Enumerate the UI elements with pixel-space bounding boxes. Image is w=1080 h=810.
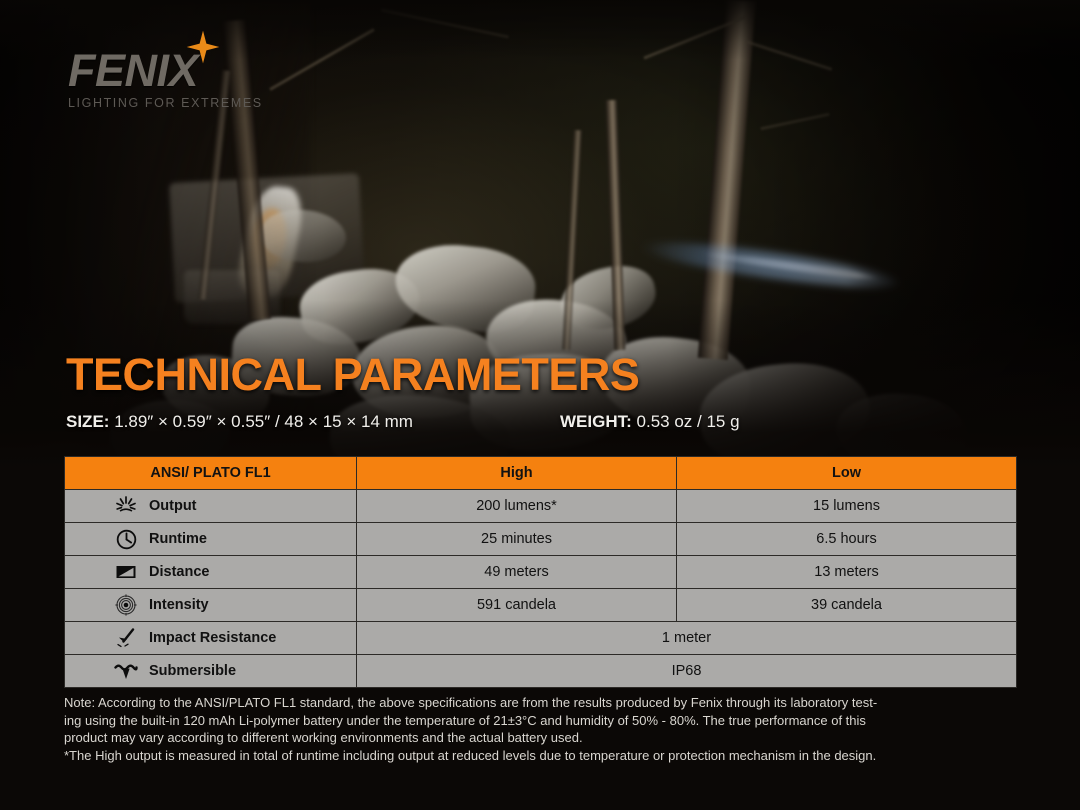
row-label-text: Submersible: [149, 663, 236, 679]
footnote-line-1: Note: According to the ANSI/PLATO FL1 st…: [64, 694, 1020, 712]
size-label: SIZE:: [66, 412, 109, 431]
target-intensity-icon: [113, 592, 139, 618]
cell-distance-low: 13 meters: [677, 556, 1017, 589]
table-row: Impact Resistance 1 meter: [65, 622, 1017, 655]
weight-spec: WEIGHT: 0.53 oz / 15 g: [560, 412, 740, 432]
cell-output-high: 200 lumens*: [357, 490, 677, 523]
footnote-block: Note: According to the ANSI/PLATO FL1 st…: [64, 694, 1020, 764]
table-header-row: ANSI/ PLATO FL1 High Low: [65, 457, 1017, 490]
size-value: 1.89″ × 0.59″ × 0.55″ / 48 × 15 × 14 mm: [114, 412, 413, 431]
row-label-text: Runtime: [149, 531, 207, 547]
row-label-text: Intensity: [149, 597, 209, 613]
cell-intensity-low: 39 candela: [677, 589, 1017, 622]
fenix-tagline: LIGHTING FOR EXTREMES: [68, 96, 318, 110]
table-row: Output 200 lumens* 15 lumens: [65, 490, 1017, 523]
four-point-star-icon: [186, 30, 220, 64]
row-label-text: Output: [149, 498, 197, 514]
row-label-intensity: Intensity: [65, 589, 357, 622]
table-row: Submersible IP68: [65, 655, 1017, 688]
row-label-text: Impact Resistance: [149, 630, 276, 646]
cell-impact-resistance-value: 1 meter: [357, 622, 1017, 655]
table-row: Runtime 25 minutes 6.5 hours: [65, 523, 1017, 556]
row-label-impact-resistance: Impact Resistance: [65, 622, 357, 655]
cell-runtime-high: 25 minutes: [357, 523, 677, 556]
size-spec: SIZE: 1.89″ × 0.59″ × 0.55″ / 48 × 15 × …: [66, 412, 413, 432]
technical-parameters-table: ANSI/ PLATO FL1 High Low: [64, 456, 1017, 688]
product-spec-page: FENIX LIGHTING FOR EXTREMES TECHNICAL PA…: [0, 0, 1080, 810]
header-low: Low: [677, 457, 1017, 490]
footnote-line-4: *The High output is measured in total of…: [64, 747, 1020, 765]
row-label-runtime: Runtime: [65, 523, 357, 556]
table-row: Intensity 591 candela 39 candela: [65, 589, 1017, 622]
clock-runtime-icon: [113, 526, 139, 552]
cell-distance-high: 49 meters: [357, 556, 677, 589]
table-row: Distance 49 meters 13 meters: [65, 556, 1017, 589]
row-label-text: Distance: [149, 564, 209, 580]
submersible-water-icon: [113, 658, 139, 684]
sunburst-output-icon: [113, 493, 139, 519]
fenix-logo: FENIX LIGHTING FOR EXTREMES: [68, 48, 318, 110]
row-label-output: Output: [65, 490, 357, 523]
row-label-distance: Distance: [65, 556, 357, 589]
impact-drop-icon: [113, 625, 139, 651]
weight-value: 0.53 oz / 15 g: [637, 412, 740, 431]
weight-label: WEIGHT:: [560, 412, 632, 431]
row-label-submersible: Submersible: [65, 655, 357, 688]
header-high: High: [357, 457, 677, 490]
beam-distance-icon: [113, 559, 139, 585]
cell-output-low: 15 lumens: [677, 490, 1017, 523]
cell-submersible-value: IP68: [357, 655, 1017, 688]
cell-runtime-low: 6.5 hours: [677, 523, 1017, 556]
cell-intensity-high: 591 candela: [357, 589, 677, 622]
footnote-line-3: product may vary according to different …: [64, 729, 1020, 747]
page-title: TECHNICAL PARAMETERS: [66, 352, 639, 397]
header-ansi-plato: ANSI/ PLATO FL1: [65, 457, 357, 490]
footnote-line-2: ing using the built-in 120 mAh Li-polyme…: [64, 712, 1020, 730]
